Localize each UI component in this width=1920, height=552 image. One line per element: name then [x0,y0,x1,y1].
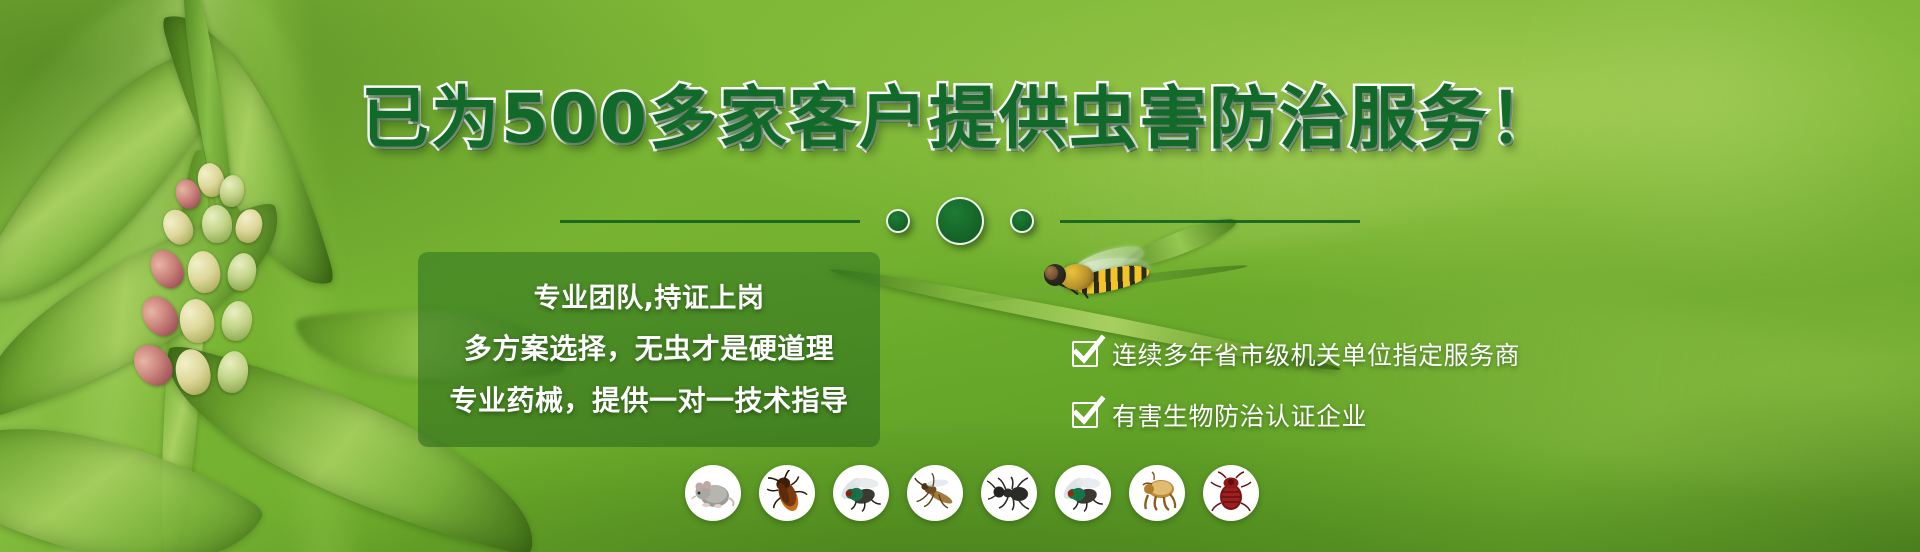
pest-control-hero-banner: 已为500多家客户提供虫害防治服务！ 专业团队,持证上岗 多方案选择，无虫才是硬… [0,0,1920,552]
credential-label: 连续多年省市级机关单位指定服务商 [1112,336,1520,372]
cockroach-icon [759,465,815,521]
credentials-list: 连续多年省市级机关单位指定服务商 有害生物防治认证企业 [1072,336,1520,433]
eye-shape [1045,266,1058,280]
bedbug-icon [1203,465,1259,521]
pest-icon-row [685,465,1259,521]
checkbox-checked-icon [1072,402,1098,428]
feature-line-2: 多方案选择，无虫才是硬道理 [464,327,835,367]
housefly-icon [833,465,889,521]
divider-line-left [560,220,860,223]
hoverfly-illustration [1040,248,1160,306]
list-item: 有害生物防治认证企业 [1072,397,1520,433]
banner-headline: 已为500多家客户提供虫害防治服务！ [0,86,1920,154]
blowfly-icon [1055,465,1111,521]
rodent-icon [685,465,741,521]
decorative-dot [886,209,910,233]
checkbox-checked-icon [1072,341,1098,367]
mosquito-icon [907,465,963,521]
decorative-dot-large [936,197,984,245]
feature-panel-content: 专业团队,持证上岗 多方案选择，无虫才是硬道理 专业药械，提供一对一技术指导 [418,252,880,447]
feature-line-1: 专业团队,持证上岗 [534,276,765,315]
list-item: 连续多年省市级机关单位指定服务商 [1072,336,1520,372]
banner-headline-text: 已为500多家客户提供虫害防治服务！ [361,80,1559,159]
credential-label: 有害生物防治认证企业 [1112,397,1367,433]
decorative-dot [1010,209,1034,233]
decorative-divider [0,200,1920,242]
ant-icon [981,465,1037,521]
flea-icon [1129,465,1185,521]
divider-line-right [1060,220,1360,223]
feature-line-3: 专业药械，提供一对一技术指导 [449,379,848,419]
